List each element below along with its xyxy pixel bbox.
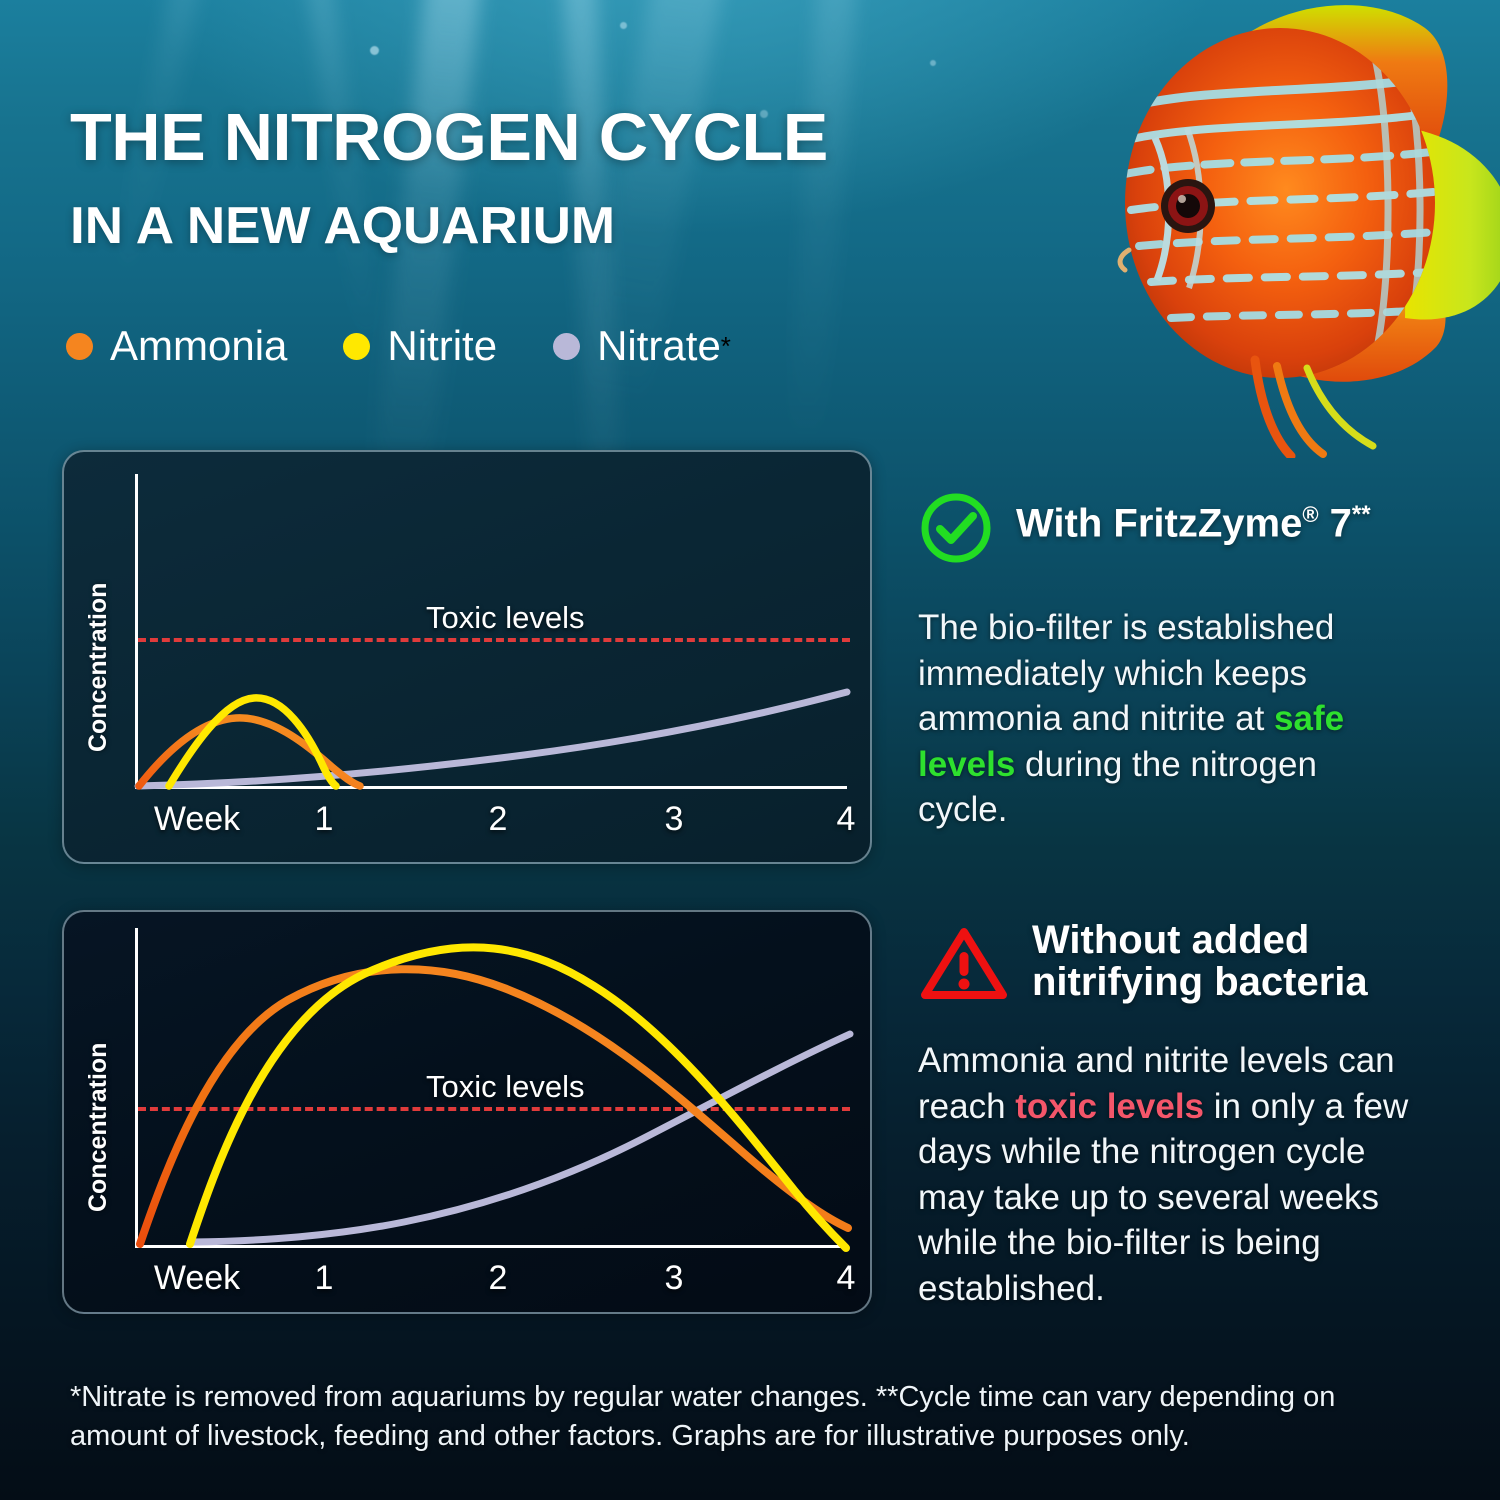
toxic-levels-highlight: toxic levels — [1015, 1087, 1204, 1126]
chart1-xtick-4: 4 — [816, 800, 872, 839]
legend: Ammonia Nitrite Nitrate* — [66, 325, 787, 367]
block1-heading-row: With FritzZyme® 7** — [918, 490, 1418, 571]
chart2-xtick-1: 1 — [294, 1259, 354, 1298]
legend-label: Nitrate — [597, 325, 721, 367]
bubble — [930, 60, 936, 66]
ammonia-dot-icon — [66, 333, 93, 360]
block2-heading-line1: Without added — [1032, 919, 1368, 961]
chart1-xtick-3: 3 — [644, 800, 704, 839]
block2-heading-line2: nitrifying bacteria — [1032, 961, 1368, 1003]
chart1-nitrate-curve — [138, 692, 847, 786]
chart2-xtick-4: 4 — [816, 1259, 872, 1298]
registered-mark: ® — [1302, 502, 1318, 527]
chart2-curves — [64, 912, 870, 1312]
warning-triangle-icon — [918, 923, 1010, 1010]
nitrate-dot-icon — [553, 333, 580, 360]
block1-heading-number: 7 — [1319, 501, 1352, 545]
block2-body: Ammonia and nitrite levels can reach tox… — [918, 1038, 1418, 1311]
check-circle-icon — [918, 490, 994, 571]
block2-heading: Without added nitrifying bacteria — [1032, 915, 1368, 1004]
block1-heading: With FritzZyme® 7** — [1016, 490, 1371, 545]
discus-fish-photo — [1055, 0, 1500, 458]
bubble — [620, 22, 627, 29]
bubble — [370, 46, 379, 55]
chart1-nitrite-curve — [169, 698, 336, 786]
chart2-xtick-week: Week — [127, 1259, 267, 1298]
block1-body: The bio-filter is established immediatel… — [918, 605, 1398, 833]
info-block-without-bacteria: Without added nitrifying bacteria Ammoni… — [918, 915, 1418, 1311]
page-title: THE NITROGEN CYCLE — [70, 104, 1121, 171]
legend-item-nitrate: Nitrate* — [553, 325, 731, 367]
chart2-xtick-2: 2 — [468, 1259, 528, 1298]
page-subtitle: IN A NEW AQUARIUM — [70, 200, 615, 252]
chart2-xtick-3: 3 — [644, 1259, 704, 1298]
legend-item-ammonia: Ammonia — [66, 325, 287, 367]
block1-footnote-marker: ** — [1352, 501, 1371, 528]
block2-heading-row: Without added nitrifying bacteria — [918, 915, 1418, 1010]
info-block-with-fritzzyme: With FritzZyme® 7** The bio-filter is es… — [918, 490, 1418, 833]
infographic-canvas: THE NITROGEN CYCLE IN A NEW AQUARIUM Amm… — [0, 0, 1500, 1500]
chart1-xtick-2: 2 — [468, 800, 528, 839]
legend-footnote-marker: * — [721, 333, 731, 359]
chart-panel-with-fritzzyme: Concentration Toxic levels Week 1 2 3 4 — [62, 450, 872, 864]
chart1-xtick-week: Week — [127, 800, 267, 839]
legend-item-nitrite: Nitrite — [343, 325, 497, 367]
nitrite-dot-icon — [343, 333, 370, 360]
block1-body-part1: The bio-filter is established immediatel… — [918, 608, 1334, 738]
legend-label: Nitrite — [387, 325, 497, 367]
chart-panel-without-bacteria: Concentration Toxic levels Week 1 2 — [62, 910, 872, 1314]
block1-heading-prefix: With FritzZyme — [1016, 501, 1302, 545]
chart1-xtick-1: 1 — [294, 800, 354, 839]
legend-label: Ammonia — [110, 325, 287, 367]
footnote: *Nitrate is removed from aquariums by re… — [70, 1378, 1380, 1456]
